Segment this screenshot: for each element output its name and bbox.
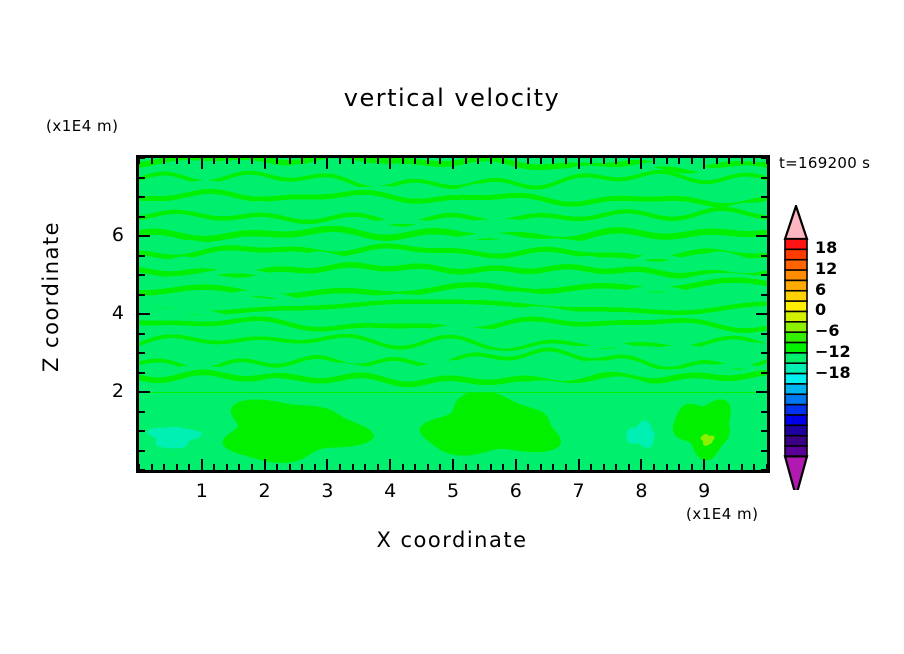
tick-mark	[728, 464, 730, 470]
tick-mark	[139, 216, 145, 218]
colorbar-tick-label: 12	[815, 259, 837, 278]
page-title: vertical velocity	[0, 84, 904, 112]
tick-mark	[326, 459, 328, 470]
colorbar-tick-label: −6	[815, 321, 840, 340]
tick-mark	[578, 158, 580, 169]
tick-mark	[756, 235, 767, 237]
tick-mark	[761, 255, 767, 257]
z-tick-label: 2	[84, 380, 124, 402]
tick-mark	[402, 158, 404, 164]
tick-mark	[761, 196, 767, 198]
tick-mark	[339, 158, 341, 164]
tick-mark	[465, 464, 467, 470]
tick-mark	[326, 158, 328, 169]
tick-mark	[678, 464, 680, 470]
tick-mark	[502, 464, 504, 470]
tick-mark	[552, 464, 554, 470]
tick-mark	[552, 158, 554, 164]
tick-mark	[761, 274, 767, 276]
timestamp-annotation: t=169200 s	[779, 154, 870, 172]
tick-mark	[213, 464, 215, 470]
tick-mark	[339, 464, 341, 470]
x-tick-label: 7	[559, 480, 599, 502]
colorbar-tick-label: 18	[815, 238, 837, 257]
tick-mark	[389, 158, 391, 169]
tick-mark	[640, 459, 642, 470]
contour-plot-area	[136, 155, 770, 473]
x-tick-label: 5	[433, 480, 473, 502]
colorbar-tick-label: −18	[815, 363, 851, 382]
tick-mark	[427, 464, 429, 470]
tick-mark	[761, 216, 767, 218]
tick-mark	[139, 333, 145, 335]
x-tick-label: 8	[621, 480, 661, 502]
tick-mark	[352, 464, 354, 470]
tick-mark	[402, 464, 404, 470]
tick-mark	[238, 158, 240, 164]
tick-mark	[761, 333, 767, 335]
tick-mark	[213, 158, 215, 164]
tick-mark	[653, 464, 655, 470]
tick-mark	[565, 158, 567, 164]
tick-mark	[139, 352, 145, 354]
tick-mark	[238, 464, 240, 470]
tick-mark	[201, 459, 203, 470]
tick-mark	[377, 464, 379, 470]
tick-mark	[301, 158, 303, 164]
tick-mark	[691, 464, 693, 470]
tick-mark	[414, 158, 416, 164]
tick-mark	[741, 158, 743, 164]
tick-mark	[201, 158, 203, 169]
tick-mark	[703, 158, 705, 169]
tick-mark	[251, 464, 253, 470]
tick-mark	[477, 158, 479, 164]
tick-mark	[314, 464, 316, 470]
tick-mark	[603, 158, 605, 164]
tick-mark	[389, 459, 391, 470]
tick-mark	[590, 464, 592, 470]
tick-mark	[761, 352, 767, 354]
tick-mark	[703, 459, 705, 470]
z-axis-units: (x1E4 m)	[46, 117, 119, 135]
tick-mark	[691, 158, 693, 164]
tick-mark	[628, 158, 630, 164]
tick-mark	[439, 158, 441, 164]
x-tick-label: 2	[245, 480, 285, 502]
tick-mark	[139, 177, 145, 179]
tick-mark	[352, 158, 354, 164]
tick-mark	[264, 459, 266, 470]
tick-mark	[439, 464, 441, 470]
tick-mark	[427, 158, 429, 164]
tick-mark	[139, 157, 145, 159]
tick-mark	[139, 430, 145, 432]
tick-mark	[540, 158, 542, 164]
tick-mark	[289, 464, 291, 470]
z-tick-label: 4	[84, 302, 124, 324]
tick-mark	[139, 372, 145, 374]
tick-mark	[139, 294, 145, 296]
tick-mark	[139, 411, 145, 413]
tick-mark	[756, 391, 767, 393]
tick-mark	[490, 464, 492, 470]
tick-mark	[251, 158, 253, 164]
tick-mark	[364, 464, 366, 470]
tick-mark	[176, 464, 178, 470]
tick-mark	[139, 235, 150, 237]
tick-mark	[540, 464, 542, 470]
x-axis-units: (x1E4 m)	[686, 505, 759, 523]
x-tick-label: 6	[496, 480, 536, 502]
tick-mark	[753, 464, 755, 470]
tick-mark	[515, 158, 517, 169]
tick-mark	[761, 469, 767, 471]
tick-mark	[264, 158, 266, 169]
tick-mark	[761, 411, 767, 413]
tick-mark	[628, 464, 630, 470]
tick-mark	[139, 196, 145, 198]
tick-mark	[653, 158, 655, 164]
tick-mark	[666, 158, 668, 164]
tick-mark	[753, 158, 755, 164]
tick-mark	[452, 158, 454, 169]
z-tick-label: 6	[84, 224, 124, 246]
tick-mark	[465, 158, 467, 164]
tick-mark	[289, 158, 291, 164]
tick-mark	[756, 313, 767, 315]
tick-mark	[678, 158, 680, 164]
colorbar-tick-label: 0	[815, 300, 826, 319]
tick-mark	[139, 313, 150, 315]
tick-mark	[761, 372, 767, 374]
tick-mark	[741, 464, 743, 470]
tick-mark	[377, 158, 379, 164]
tick-mark	[603, 464, 605, 470]
tick-mark	[761, 157, 767, 159]
colorbar	[782, 205, 810, 494]
tick-mark	[761, 450, 767, 452]
tick-mark	[666, 464, 668, 470]
tick-mark	[716, 464, 718, 470]
plot-frame	[136, 155, 770, 473]
tick-mark	[139, 274, 145, 276]
tick-mark	[176, 158, 178, 164]
tick-mark	[163, 464, 165, 470]
tick-mark	[761, 294, 767, 296]
tick-mark	[761, 430, 767, 432]
tick-mark	[615, 158, 617, 164]
colorbar-swatches	[782, 205, 810, 490]
tick-mark	[276, 158, 278, 164]
colorbar-tick-label: 6	[815, 280, 826, 299]
tick-mark	[452, 459, 454, 470]
tick-mark	[151, 464, 153, 470]
z-axis-label: Z coordinate	[39, 252, 63, 372]
tick-mark	[163, 158, 165, 164]
tick-mark	[728, 158, 730, 164]
tick-mark	[640, 158, 642, 169]
tick-mark	[716, 158, 718, 164]
tick-mark	[226, 464, 228, 470]
tick-mark	[364, 158, 366, 164]
tick-mark	[527, 158, 529, 164]
tick-mark	[502, 158, 504, 164]
tick-mark	[314, 158, 316, 164]
tick-mark	[515, 459, 517, 470]
tick-mark	[490, 158, 492, 164]
tick-mark	[527, 464, 529, 470]
tick-mark	[276, 464, 278, 470]
tick-mark	[301, 464, 303, 470]
tick-mark	[761, 177, 767, 179]
tick-mark	[139, 469, 145, 471]
x-tick-label: 9	[684, 480, 724, 502]
tick-mark	[565, 464, 567, 470]
tick-mark	[578, 459, 580, 470]
tick-mark	[139, 450, 145, 452]
tick-mark	[151, 158, 153, 164]
x-tick-label: 4	[370, 480, 410, 502]
tick-mark	[226, 158, 228, 164]
tick-mark	[139, 391, 150, 393]
tick-mark	[477, 464, 479, 470]
x-tick-label: 3	[307, 480, 347, 502]
tick-mark	[139, 255, 145, 257]
tick-mark	[615, 464, 617, 470]
colorbar-tick-label: −12	[815, 342, 851, 361]
tick-mark	[188, 158, 190, 164]
tick-mark	[188, 464, 190, 470]
tick-mark	[414, 464, 416, 470]
x-tick-label: 1	[182, 480, 222, 502]
tick-mark	[590, 158, 592, 164]
x-axis-label: X coordinate	[0, 528, 904, 552]
